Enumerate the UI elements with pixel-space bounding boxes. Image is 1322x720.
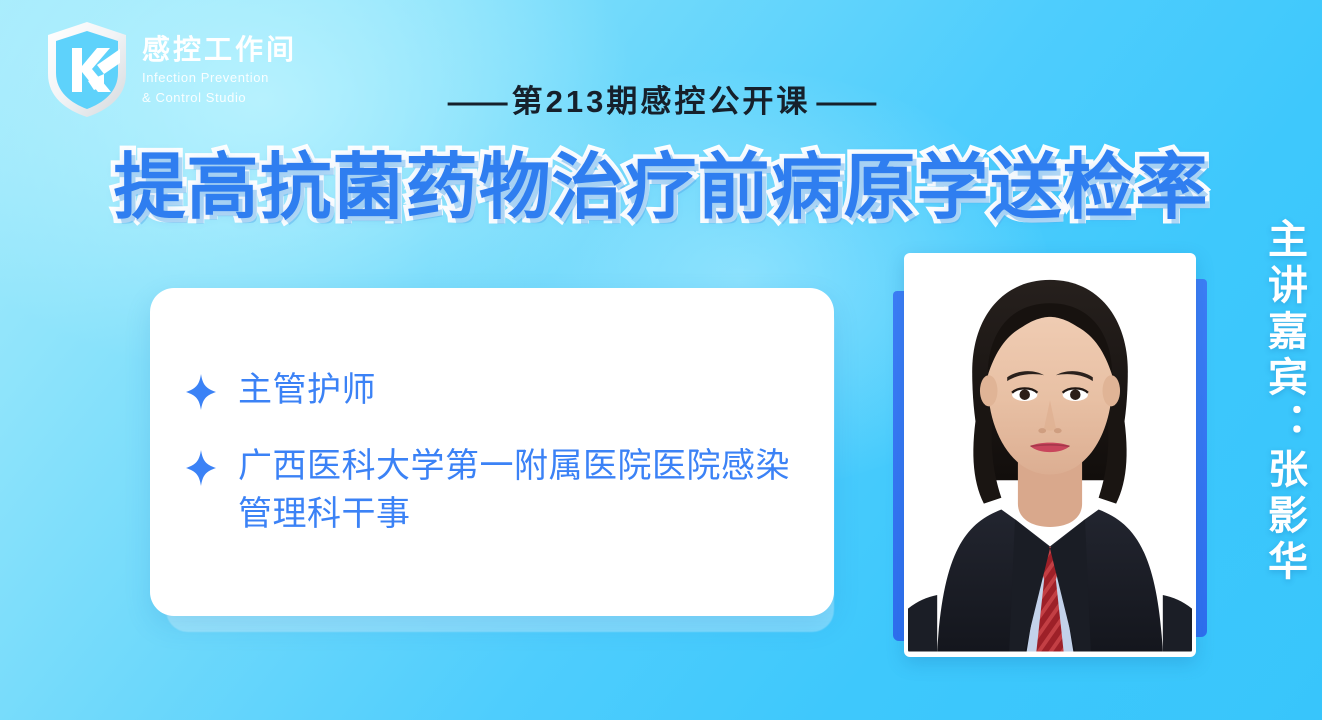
episode-dash-right: —— xyxy=(816,84,874,120)
episode-banner: ——第213期感控公开课—— xyxy=(0,76,1322,121)
speaker-photo-illustration xyxy=(908,257,1192,653)
list-item-label: 主管护师 xyxy=(238,366,376,414)
episode-label: 第213期感控公开课 xyxy=(512,84,811,119)
brand-name-cn: 感控工作间 xyxy=(142,35,297,66)
speaker-portrait-block xyxy=(885,245,1215,665)
list-item-label: 广西医科大学第一附属医院医院感染管理科干事 xyxy=(238,442,818,539)
webinar-poster: 感控工作间 Infection Prevention & Control Stu… xyxy=(0,0,1322,720)
sparkle-icon xyxy=(184,372,218,412)
list-item: 广西医科大学第一附属医院医院感染管理科干事 xyxy=(184,442,834,539)
avatar xyxy=(908,257,1192,653)
portrait-frame xyxy=(904,253,1196,657)
guest-vertical-label: 主讲嘉宾：张影华 xyxy=(1263,218,1304,586)
sparkle-icon xyxy=(184,448,218,488)
page-title: 提高抗菌药物治疗前病原学送检率 xyxy=(0,128,1322,233)
episode-dash-left: —— xyxy=(448,84,506,120)
page-title-text: 提高抗菌药物治疗前病原学送检率 xyxy=(113,128,1208,233)
list-item: 主管护师 xyxy=(184,366,834,414)
speaker-info-card: 主管护师 广西医科大学第一附属医院医院感染管理科干事 xyxy=(150,288,834,616)
